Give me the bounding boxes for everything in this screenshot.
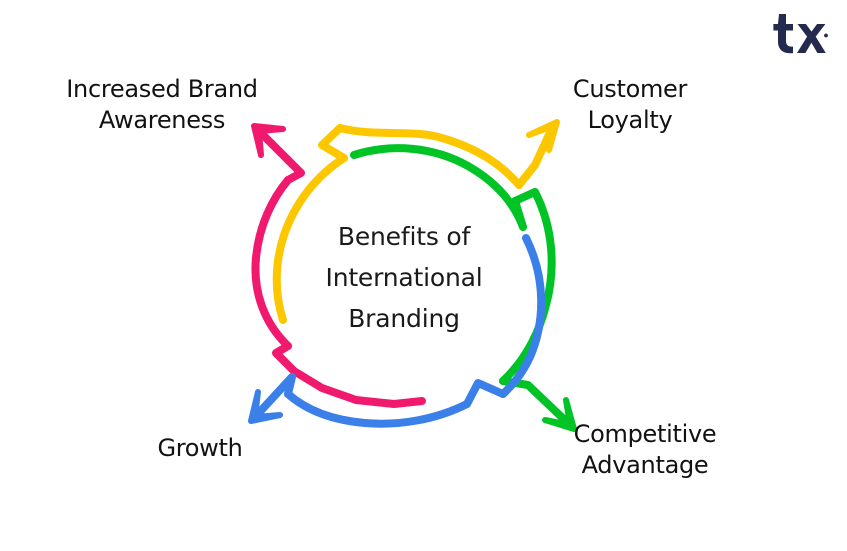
node-label-growth: Growth [118, 433, 282, 464]
node-label-competitive-advantage-line-2: Advantage [533, 450, 757, 481]
node-label-increased-brand-awareness-line-2: Awareness [34, 105, 290, 136]
node-label-customer-loyalty: Customer Loyalty [528, 74, 732, 136]
node-label-customer-loyalty-line-1: Customer [528, 74, 732, 105]
diagram-canvas: Benefits of International Branding Incre… [0, 0, 847, 551]
node-label-competitive-advantage-line-1: Competitive [533, 419, 757, 450]
center-label: Benefits of International Branding [293, 216, 515, 339]
node-label-competitive-advantage: Competitive Advantage [533, 419, 757, 481]
center-label-line-1: Benefits of [293, 216, 515, 257]
center-label-line-3: Branding [293, 298, 515, 339]
center-label-line-2: International [293, 257, 515, 298]
node-label-increased-brand-awareness: Increased Brand Awareness [34, 74, 290, 136]
node-label-increased-brand-awareness-line-1: Increased Brand [34, 74, 290, 105]
node-label-customer-loyalty-line-2: Loyalty [528, 105, 732, 136]
node-label-growth-line-1: Growth [118, 433, 282, 464]
